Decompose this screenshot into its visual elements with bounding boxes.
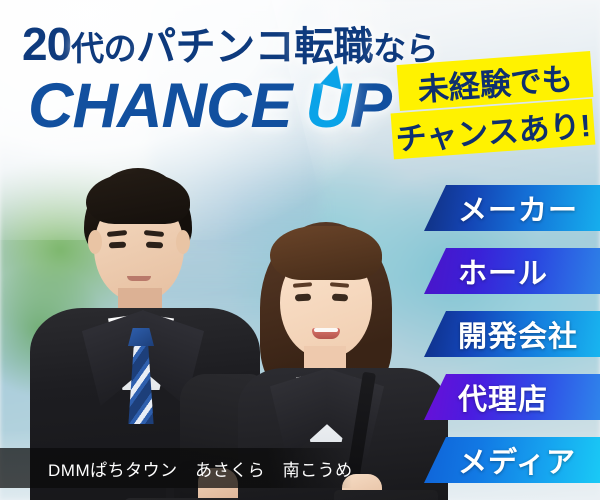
woman-teeth — [314, 328, 338, 332]
headline-katakana: パチンコ — [136, 25, 294, 69]
logo-chance-text: CHANCE — [28, 71, 292, 141]
category-label: メディア — [458, 439, 576, 481]
man-mouth — [127, 276, 151, 281]
caption-bar: DMMぱちタウン あさくら 南こうめ — [0, 448, 352, 488]
headline-primary: 20代のパチンコ転職なら — [22, 14, 438, 72]
man-ear-right — [176, 230, 190, 254]
category-label: 開発会社 — [458, 313, 578, 355]
chance-up-logo: CHANCEUP — [28, 70, 391, 142]
man-fringe — [86, 174, 190, 224]
man-eye-left — [109, 242, 126, 249]
logo-u-letter: U — [306, 70, 351, 142]
woman-bag — [334, 490, 438, 500]
category-label: 代理店 — [458, 376, 548, 418]
banner-advertisement: 20代のパチンコ転職なら CHANCEUP 未経験でも チャンスあり! メーカー… — [0, 0, 600, 500]
category-bar-maker[interactable]: メーカー — [424, 185, 600, 231]
category-bar-agency[interactable]: 代理店 — [424, 374, 600, 420]
category-bar-hall[interactable]: ホール — [424, 248, 600, 294]
headline-number: 20 — [22, 18, 71, 70]
woman-eye-left — [295, 294, 311, 302]
headline-mid: 代の — [71, 30, 136, 67]
woman-fringe — [270, 226, 382, 280]
caption-text: DMMぱちタウン あさくら 南こうめ — [48, 456, 353, 481]
headline-kanji: 転職 — [294, 25, 373, 69]
man-eye-right — [146, 242, 163, 249]
headline-tail: なら — [373, 30, 438, 67]
logo-p-letter: P — [350, 71, 391, 141]
category-bar-media[interactable]: メディア — [424, 437, 600, 483]
man-ear-left — [88, 230, 102, 254]
category-bar-development-company[interactable]: 開発会社 — [424, 311, 600, 357]
woman-eye-right — [332, 294, 348, 302]
category-label: メーカー — [458, 187, 578, 229]
category-label: ホール — [458, 250, 548, 292]
